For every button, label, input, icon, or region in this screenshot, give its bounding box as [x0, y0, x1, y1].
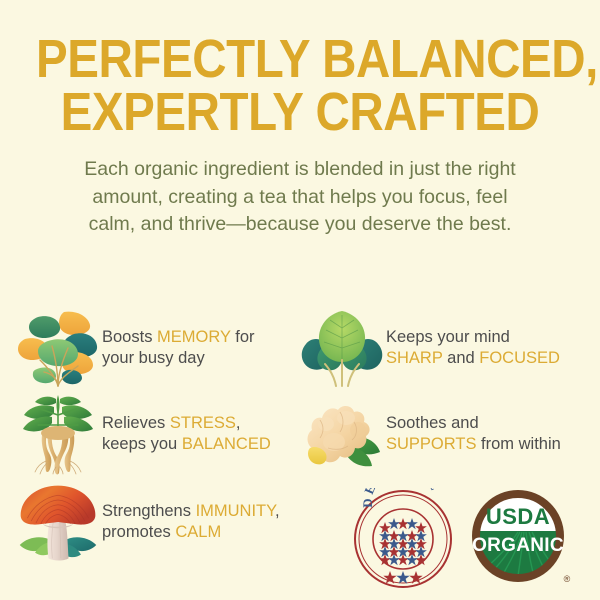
benefit-text-segment: Keeps your mind — [386, 328, 510, 346]
benefit-item-immunity-calm: Strengthens IMMUNITY, promotes CALM — [0, 481, 292, 563]
benefit-text-segment: from within — [476, 435, 560, 453]
certification-seals: MADE IN THE USA — [352, 487, 592, 595]
benefit-highlight-word: STRESS — [170, 414, 236, 432]
usda-text: USDA — [486, 504, 550, 529]
benefit-item-memory: Boosts MEMORY for your busy day — [0, 307, 292, 389]
benefit-text-segment: Relieves — [102, 414, 170, 432]
benefit-text: Strengthens IMMUNITY, promotes CALM — [102, 501, 280, 544]
benefit-row: Relieves STRESS, keeps you BALANCED — [0, 393, 600, 481]
benefit-text: Boosts MEMORY for your busy day — [102, 327, 255, 370]
subhead-line-3: calm, and thrive—because you deserve the… — [30, 211, 570, 239]
benefit-highlight-word: MEMORY — [157, 328, 231, 346]
benefit-text-segment: , — [236, 414, 241, 432]
headline-line-1: PERFECTLY BALANCED, — [36, 33, 564, 86]
benefit-text: Relieves STRESS, keeps you BALANCED — [102, 413, 271, 456]
benefit-text-segment: Boosts — [102, 328, 157, 346]
mushroom-icon — [14, 481, 102, 563]
benefit-text-segment: for — [231, 328, 255, 346]
benefit-highlight-word: SHARP — [386, 349, 443, 367]
benefit-highlight-word: IMMUNITY — [196, 502, 275, 520]
benefit-item-soothes-supports: Soothes and SUPPORTS from within — [292, 393, 592, 475]
benefit-text: Keeps your mind SHARP and FOCUSED — [386, 327, 560, 370]
benefit-text-segment: Strengthens — [102, 502, 196, 520]
benefit-row: Boosts MEMORY for your busy day — [0, 307, 600, 393]
organic-text: ORGANIC — [472, 535, 564, 556]
benefit-highlight-word-2: FOCUSED — [479, 349, 560, 367]
benefit-highlight-word: BALANCED — [182, 435, 271, 453]
benefit-text-segment: , — [275, 502, 280, 520]
green-leaf-cluster-icon — [298, 307, 386, 389]
benefit-text-segment: your busy day — [102, 349, 205, 367]
benefit-text-segment: promotes — [102, 523, 175, 541]
subhead-line-2: amount, creating a tea that helps you fo… — [30, 184, 570, 212]
subhead-line-1: Each organic ingredient is blended in ju… — [30, 156, 570, 184]
made-in-usa-seal: MADE IN THE USA — [352, 488, 454, 595]
benefit-highlight-word: SUPPORTS — [386, 435, 476, 453]
benefit-text: Soothes and SUPPORTS from within — [386, 413, 561, 456]
registered-mark: ® — [564, 574, 571, 584]
benefit-highlight-word: CALM — [175, 523, 221, 541]
headline-line-2: EXPERTLY CRAFTED — [36, 86, 564, 139]
benefit-text-segment: keeps you — [102, 435, 182, 453]
benefit-text-segment: and — [443, 349, 480, 367]
usda-organic-seal: USDA ORGANIC ® — [468, 486, 574, 597]
ginkgo-leaf-icon — [14, 307, 102, 389]
benefit-item-stress-balanced: Relieves STRESS, keeps you BALANCED — [0, 393, 292, 475]
benefit-text-segment: Soothes and — [386, 414, 479, 432]
benefit-item-sharp-focused: Keeps your mind SHARP and FOCUSED — [292, 307, 592, 389]
ginseng-root-icon — [14, 393, 102, 475]
ginger-root-icon — [298, 393, 386, 475]
page-title: PERFECTLY BALANCED, EXPERTLY CRAFTED — [0, 0, 600, 139]
subhead-paragraph: Each organic ingredient is blended in ju… — [30, 156, 570, 239]
